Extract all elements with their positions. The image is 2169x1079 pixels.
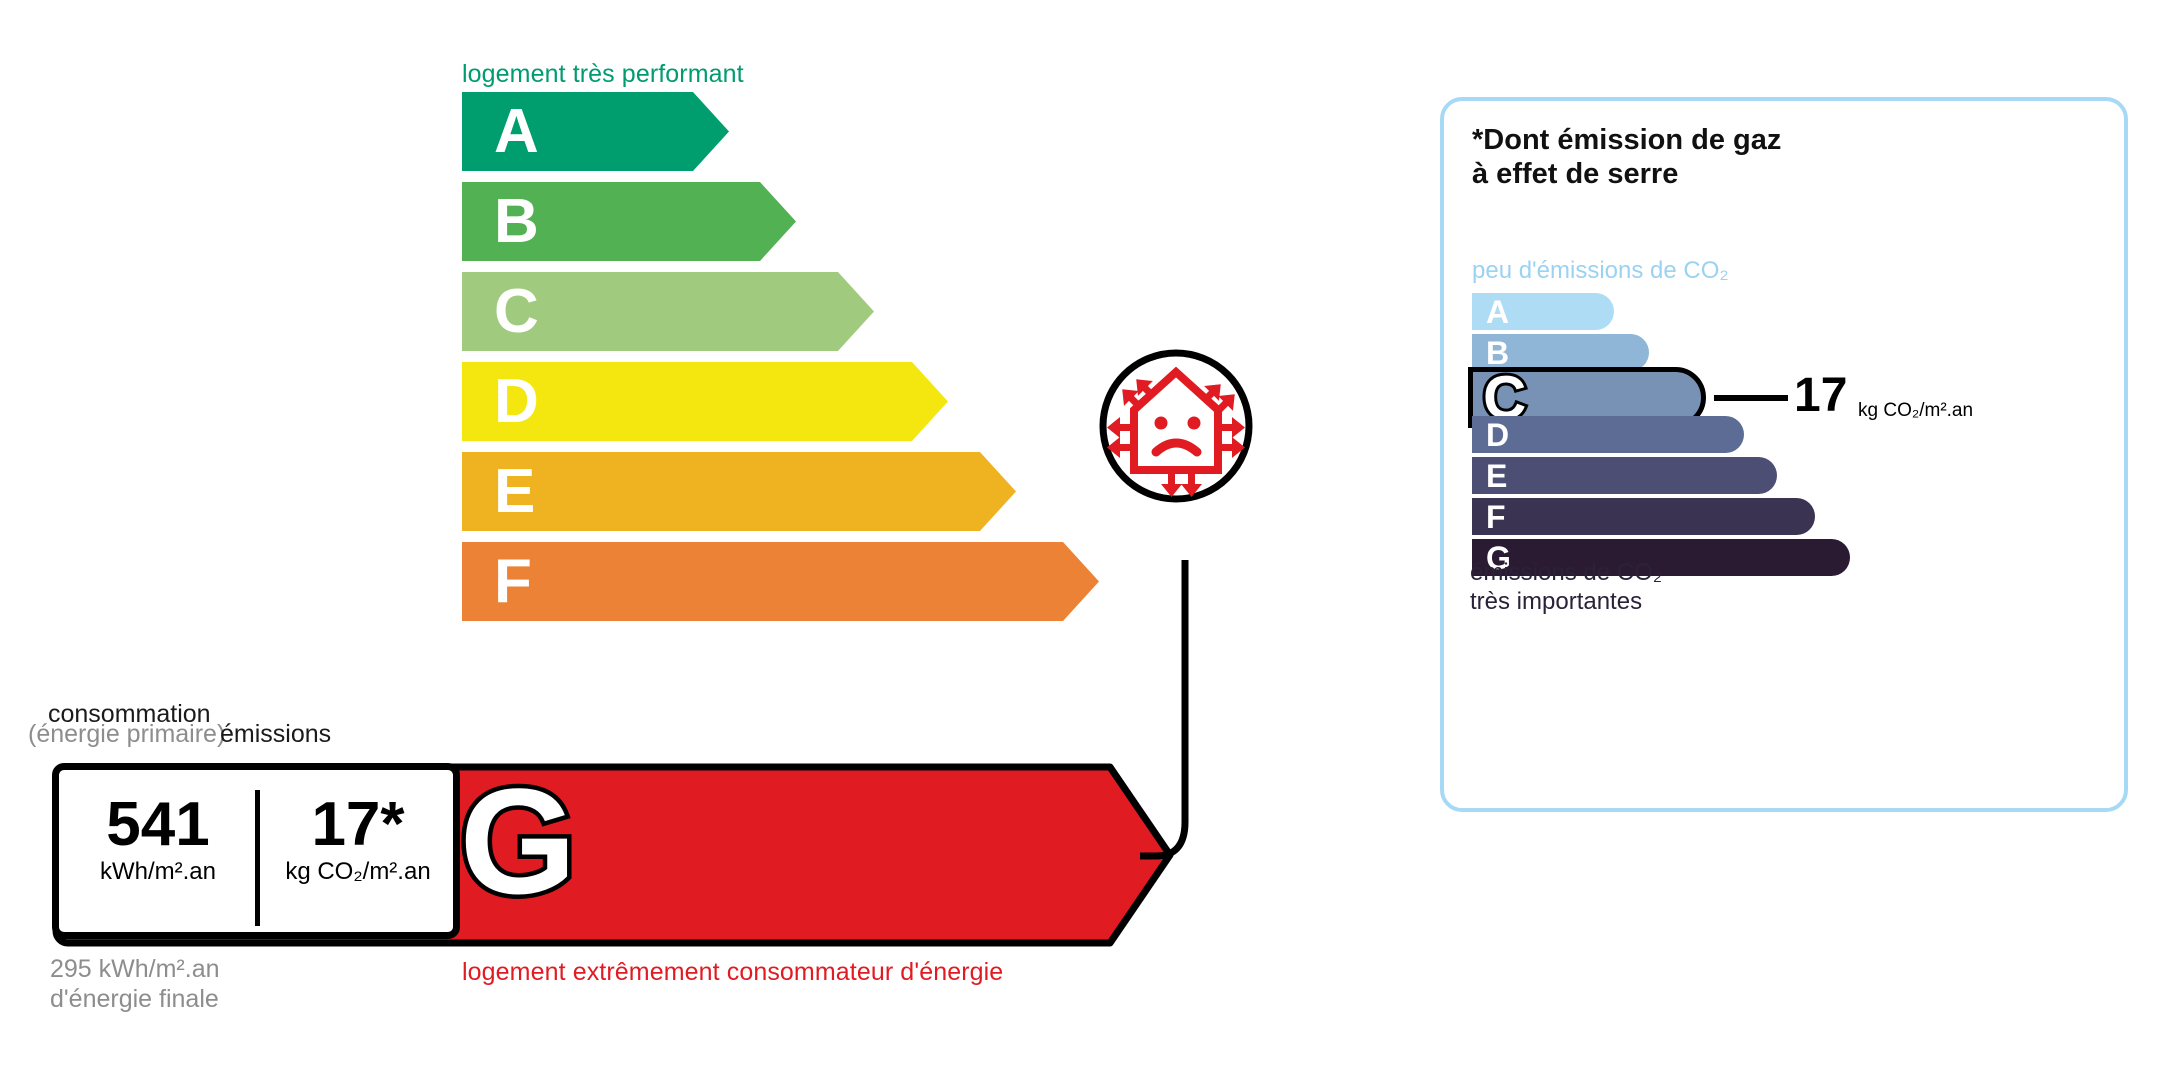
emissions-unit: kg CO₂/m².an	[263, 859, 453, 885]
co2-grade-letter: F	[1486, 501, 1506, 533]
co2-grade-row-e: E	[1472, 457, 1777, 494]
co2-low-caption: peu d'émissions de CO₂	[1472, 257, 1729, 285]
energy-grade-row-d: D	[462, 362, 948, 441]
co2-leader-line	[1714, 395, 1788, 401]
co2-grade-row-a: A	[1472, 293, 1614, 330]
footnote-final-energy-value: 295 kWh/m².an	[50, 955, 220, 984]
energy-high-caption: logement extrêmement consommateur d'éner…	[462, 958, 1003, 987]
co2-panel-title: *Dont émission de gaz à effet de serre	[1472, 123, 1781, 191]
consumption-cell: 541 kWh/m².an	[65, 792, 251, 885]
divider	[255, 790, 260, 926]
energy-grade-row-e: E	[462, 452, 1016, 531]
label-energie-primaire: (énergie primaire)	[28, 720, 225, 749]
svg-text:G: G	[460, 763, 577, 925]
sad-house-energy-loss-icon	[1098, 348, 1254, 504]
consumption-values-box: 541 kWh/m².an 17* kg CO₂/m².an	[52, 763, 460, 939]
consumption-value: 541	[65, 792, 251, 857]
energy-performance-chart: logement très performant ABCDEF logement…	[0, 0, 1250, 1079]
co2-value-unit: kg CO₂/m².an	[1858, 401, 1973, 420]
label-emissions: émissions	[220, 720, 331, 749]
energy-grade-row-c: C	[462, 272, 874, 351]
emissions-value: 17*	[263, 792, 453, 857]
consumption-unit: kWh/m².an	[65, 859, 251, 885]
co2-grade-row-f: F	[1472, 498, 1815, 535]
energy-grade-row-f: F	[462, 542, 1099, 621]
co2-grade-letter: D	[1486, 419, 1509, 451]
energy-low-caption: logement très performant	[462, 60, 744, 89]
energy-grade-row-a: A	[462, 92, 729, 171]
co2-grade-row-d: D	[1472, 416, 1744, 453]
footnote-final-energy-label: d'énergie finale	[50, 985, 219, 1014]
co2-grade-letter: A	[1486, 296, 1509, 328]
emissions-cell: 17* kg CO₂/m².an	[263, 792, 453, 885]
co2-value: 17	[1794, 372, 1847, 420]
co2-high-caption: émissions de CO₂ très importantes	[1470, 559, 1662, 617]
marker-connector-line	[1140, 560, 1230, 880]
co2-emissions-panel: *Dont émission de gaz à effet de serre p…	[1440, 97, 2128, 812]
energy-grade-row-b: B	[462, 182, 796, 261]
co2-grade-letter: E	[1486, 460, 1507, 492]
